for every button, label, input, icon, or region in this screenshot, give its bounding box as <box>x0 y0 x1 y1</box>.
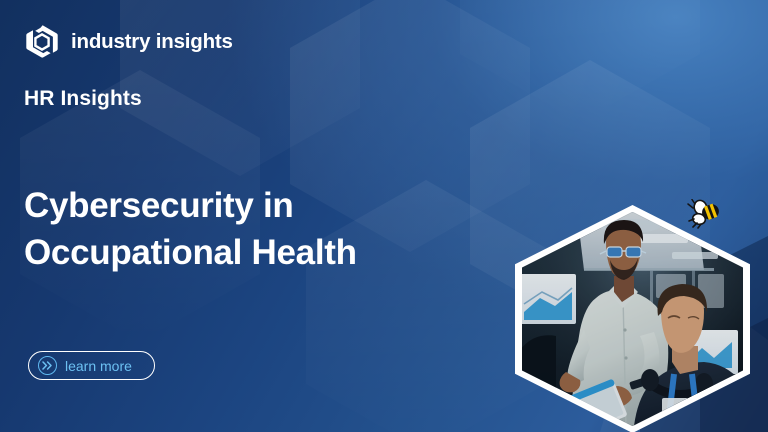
double-chevron-right-icon <box>38 356 57 375</box>
page-title: Cybersecurity in Occupational Health <box>24 183 494 277</box>
learn-more-label: learn more <box>65 359 132 373</box>
bee-icon <box>687 199 721 229</box>
brand-name: industry insights <box>71 32 233 53</box>
headline-line-2: Occupational Health <box>24 230 494 277</box>
learn-more-button[interactable]: learn more <box>28 351 155 380</box>
eyebrow-label: HR Insights <box>24 88 142 109</box>
banner: industry insights HR Insights Cybersecur… <box>0 0 768 432</box>
hexagon-cube-logo-icon <box>24 24 60 60</box>
media-hexagon <box>515 205 750 432</box>
headline-line-1: Cybersecurity in <box>24 186 293 225</box>
brand-logo[interactable]: industry insights <box>24 24 233 60</box>
